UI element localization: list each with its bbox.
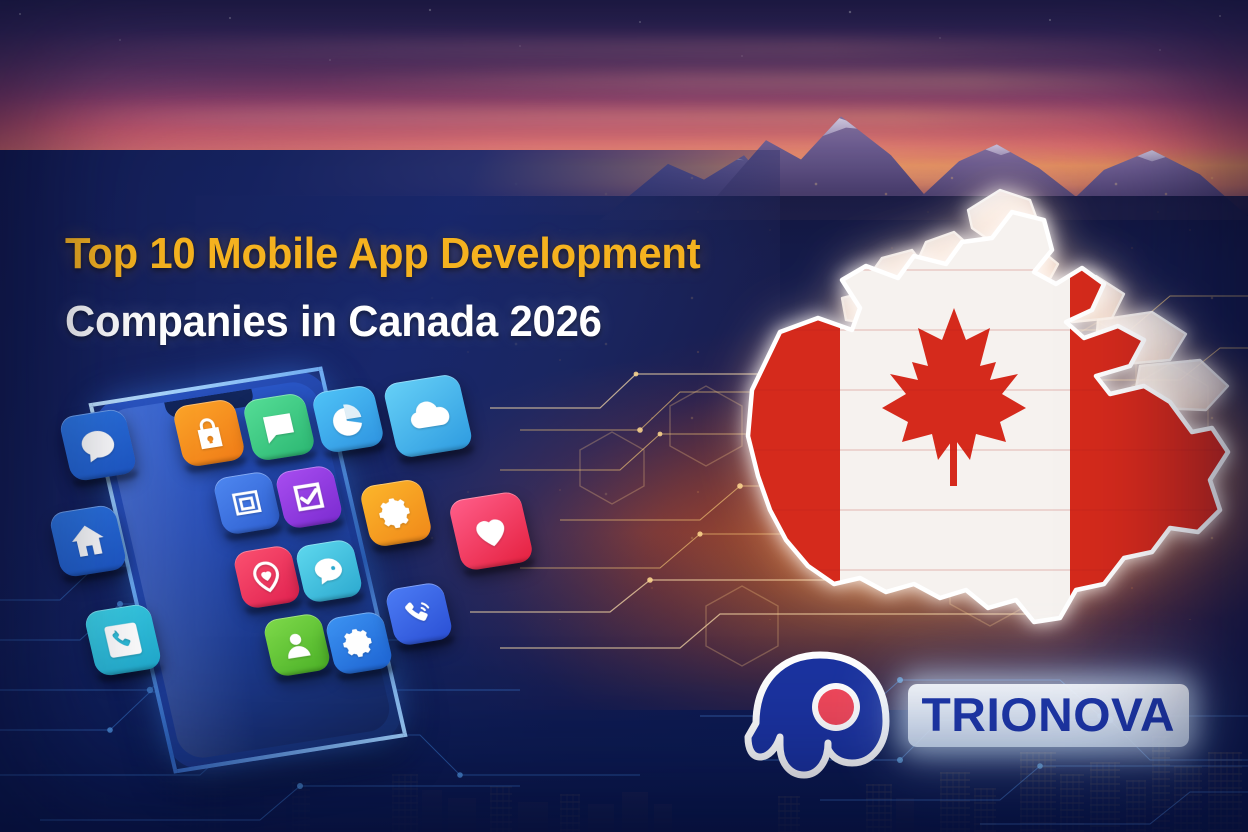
cloud-icon[interactable] [382, 373, 474, 459]
heart-glyph [466, 507, 517, 554]
check-glyph [289, 478, 330, 516]
message-glyph [257, 407, 301, 448]
home-glyph [65, 519, 111, 562]
cloud-glyph [401, 391, 455, 441]
brand-name: TRIONOVA [922, 691, 1176, 738]
brand-name-plate: TRIONOVA [908, 684, 1189, 747]
brand-logo[interactable]: TRIONOVA [748, 645, 1189, 785]
headline: Top 10 Mobile App DevelopmentCompanies i… [65, 228, 734, 348]
gear2-glyph [339, 624, 380, 662]
headline-line-1: Top 10 Mobile App Development [65, 228, 700, 280]
camera-glyph [227, 484, 268, 522]
phone-glyph [399, 595, 440, 633]
analytics-icon[interactable] [310, 384, 385, 454]
trionova-monogram-icon [748, 645, 898, 785]
call-icon[interactable] [384, 581, 454, 647]
pinheart-glyph [247, 558, 288, 596]
phone-scene [30, 370, 530, 790]
marketing-banner: TRIONOVA Top 10 Mobile App DevelopmentCo… [0, 0, 1248, 832]
lock-glyph [187, 413, 231, 454]
person-glyph [277, 626, 318, 664]
comment-glyph [309, 552, 350, 590]
canada-map [700, 180, 1248, 665]
chat-glyph [75, 423, 121, 466]
favorites-icon[interactable] [447, 490, 534, 571]
contact-glyph [100, 618, 146, 661]
headline-line-2: Companies in Canada 2026 [65, 296, 700, 348]
gear-glyph [374, 493, 418, 534]
settings-icon[interactable] [358, 478, 433, 548]
pie-glyph [326, 399, 370, 440]
